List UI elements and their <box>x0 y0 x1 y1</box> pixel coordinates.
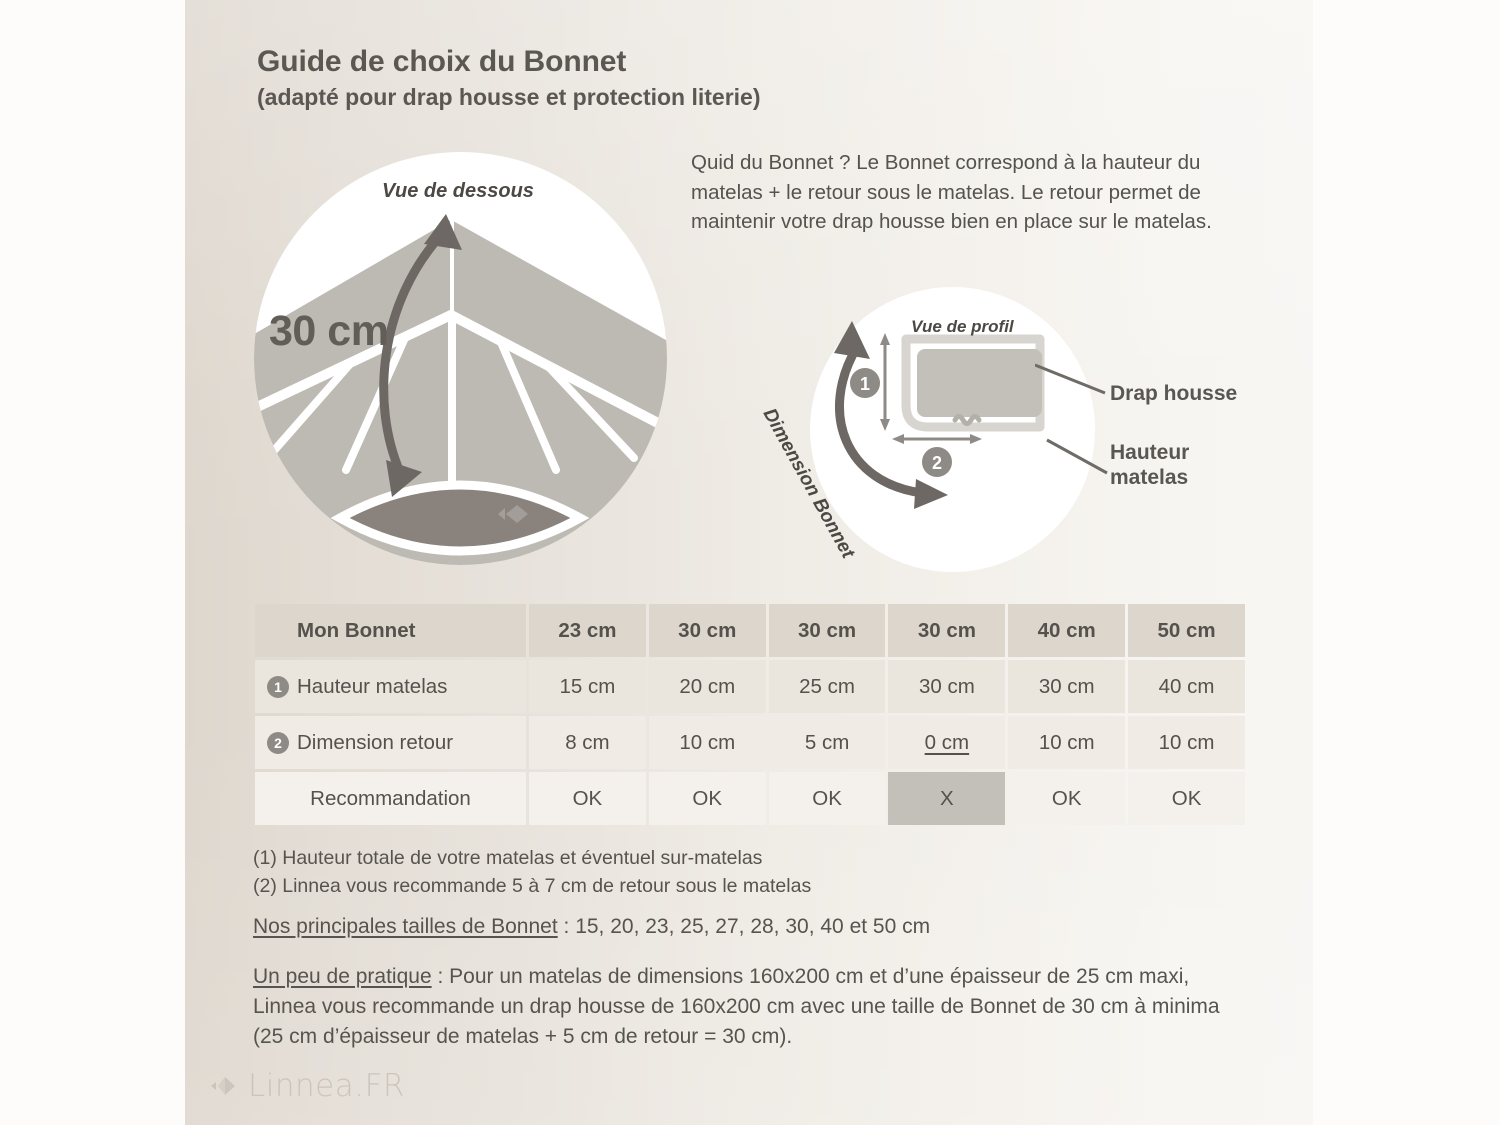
row-label-cell: 2 Dimension retour <box>255 716 526 769</box>
title-main: Guide de choix du Bonnet <box>257 44 1017 80</box>
row-label: Mon Bonnet <box>297 619 415 642</box>
available-sizes-rest: : 15, 20, 23, 25, 27, 28, 30, 40 et 50 c… <box>558 915 930 938</box>
table-cell: 20 cm <box>649 660 766 713</box>
badge-2: 2 <box>267 732 289 754</box>
table-cell: OK <box>529 772 646 825</box>
svg-text:1: 1 <box>860 374 870 394</box>
table-cell: 10 cm <box>1008 716 1125 769</box>
table-cell: 30 cm <box>1008 660 1125 713</box>
footnotes: (1) Hauteur totale de votre matelas et é… <box>253 845 811 900</box>
callout-hauteur-matelas: Hauteur matelas <box>1110 440 1189 490</box>
svg-text:2: 2 <box>932 453 942 473</box>
table-row: 2 Dimension retour 8 cm 10 cm 5 cm 0 cm … <box>255 716 1245 769</box>
available-sizes-lead: Nos principales tailles de Bonnet <box>253 915 558 938</box>
table-row: 1 Hauteur matelas 15 cm 20 cm 25 cm 30 c… <box>255 660 1245 713</box>
row-label-cell: Recommandation <box>255 772 526 825</box>
logo-text: Linnea.FR <box>248 1068 405 1104</box>
title-subtitle: (adapté pour drap housse et protection l… <box>257 82 1017 113</box>
table-cell: 50 cm <box>1128 604 1245 657</box>
intro-paragraph: Quid du Bonnet ? Le Bonnet correspond à … <box>691 148 1271 237</box>
table-cell: 30 cm <box>649 604 766 657</box>
bonnet-table-wrapper: Mon Bonnet 23 cm 30 cm 30 cm 30 cm 40 cm… <box>252 601 1248 828</box>
table-cell: 10 cm <box>649 716 766 769</box>
practical-example: Un peu de pratique : Pour un matelas de … <box>253 962 1253 1053</box>
badge-1: 1 <box>267 676 289 698</box>
infographic-root: Guide de choix du Bonnet (adapté pour dr… <box>0 0 1500 1125</box>
footnote-1: (1) Hauteur totale de votre matelas et é… <box>253 845 811 873</box>
table-row: Recommandation OK OK OK X OK OK <box>255 772 1245 825</box>
diamond-leaf-icon <box>209 1071 239 1101</box>
profile-view-label: Vue de profil <box>911 317 1014 337</box>
bottom-view-diagram: Vue de dessous 30 cm <box>254 152 667 565</box>
table-cell: 40 cm <box>1008 604 1125 657</box>
table-cell: 40 cm <box>1128 660 1245 713</box>
table-cell: 15 cm <box>529 660 646 713</box>
page-title: Guide de choix du Bonnet (adapté pour dr… <box>257 44 1017 113</box>
bottom-view-label: Vue de dessous <box>382 180 534 203</box>
table-cell: 5 cm <box>769 716 886 769</box>
content-layer: Guide de choix du Bonnet (adapté pour dr… <box>185 0 1313 1125</box>
table-row: Mon Bonnet 23 cm 30 cm 30 cm 30 cm 40 cm… <box>255 604 1245 657</box>
table-cell: 10 cm <box>1128 716 1245 769</box>
table-cell: OK <box>1128 772 1245 825</box>
practical-example-lead: Un peu de pratique <box>253 965 432 988</box>
table-cell: OK <box>769 772 886 825</box>
table-cell: 30 cm <box>769 604 886 657</box>
table-cell: 30 cm <box>888 660 1005 713</box>
bottom-view-measure: 30 cm <box>269 307 388 356</box>
row-label: Recommandation <box>310 787 471 810</box>
table-cell: OK <box>649 772 766 825</box>
available-sizes-line: Nos principales tailles de Bonnet : 15, … <box>253 915 930 939</box>
linnea-logo[interactable]: Linnea.FR <box>209 1068 405 1104</box>
row-label: Dimension retour <box>297 731 453 754</box>
table-cell: 0 cm <box>888 716 1005 769</box>
bonnet-table: Mon Bonnet 23 cm 30 cm 30 cm 30 cm 40 cm… <box>252 601 1248 828</box>
callout-drap-housse: Drap housse <box>1110 381 1237 406</box>
table-cell-flagged: X <box>888 772 1005 825</box>
table-cell: 8 cm <box>529 716 646 769</box>
table-cell: 30 cm <box>888 604 1005 657</box>
table-cell: OK <box>1008 772 1125 825</box>
row-label: Hauteur matelas <box>297 675 447 698</box>
table-cell-highlight: 0 cm <box>925 731 969 754</box>
table-cell: 23 cm <box>529 604 646 657</box>
row-label-cell: Mon Bonnet <box>255 604 526 657</box>
footnote-2: (2) Linnea vous recommande 5 à 7 cm de r… <box>253 873 811 901</box>
table-cell: 25 cm <box>769 660 886 713</box>
row-label-cell: 1 Hauteur matelas <box>255 660 526 713</box>
bottom-view-svg <box>254 152 667 565</box>
